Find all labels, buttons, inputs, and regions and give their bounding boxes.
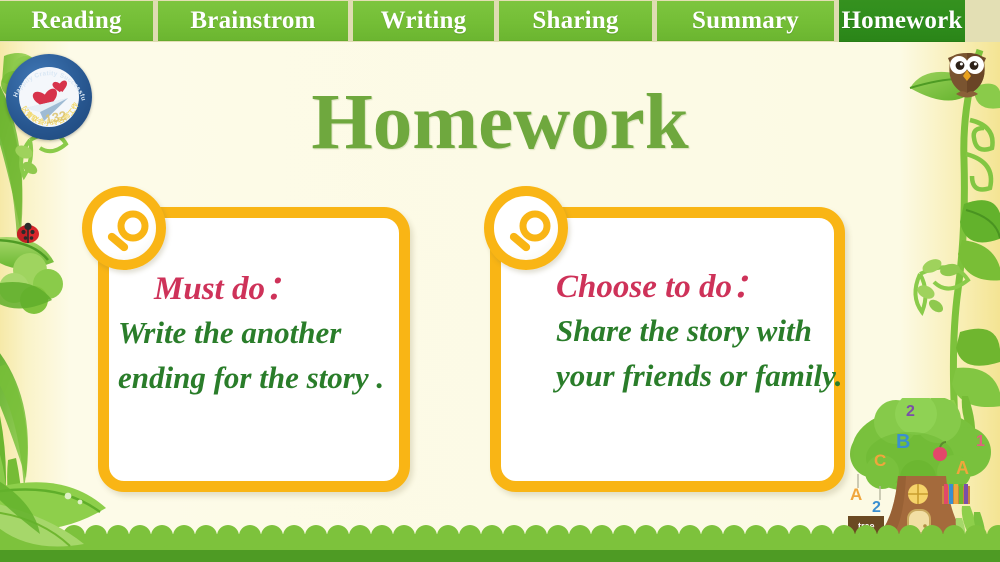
card-body-text: Share the story with your friends or fam… [556, 308, 856, 398]
badge-number: 132 [46, 110, 76, 128]
card-lead-label: Must do： [118, 268, 414, 310]
svg-text:1: 1 [976, 433, 985, 450]
card-text-choose-to-do: Choose to do： Share the story with your … [556, 266, 856, 398]
tab-homework[interactable]: Homework [839, 0, 965, 42]
tab-label: Writing [381, 7, 467, 35]
tab-summary[interactable]: Summary [657, 1, 834, 41]
svg-text:132: 132 [46, 110, 68, 127]
magnifier-icon [508, 210, 554, 256]
magnifier-icon [106, 210, 152, 256]
tab-label: Brainstrom [190, 7, 315, 35]
slide-canvas: 2 B C A 1 A 2 3 tree [0, 0, 1000, 562]
svg-text:2: 2 [906, 403, 915, 420]
tab-label: Homework [841, 7, 962, 35]
school-badge-logo: Happily Cratity Successfully 区青联会小玲名师工作室… [6, 54, 92, 140]
svg-text:C: C [874, 451, 886, 470]
svg-text:A: A [956, 458, 969, 478]
tab-reading[interactable]: Reading [0, 1, 153, 41]
tab-label: Reading [31, 7, 121, 35]
card-body-text: Write the another ending for the story . [118, 310, 414, 400]
tab-sharing[interactable]: Sharing [499, 1, 652, 41]
svg-text:B: B [896, 431, 910, 453]
tab-brainstrom[interactable]: Brainstrom [158, 1, 348, 41]
card-icon-badge-choose-to-do [484, 186, 568, 270]
card-text-must-do: Must do： Write the another ending for th… [118, 268, 414, 400]
tab-label: Sharing [532, 7, 618, 35]
navigation-tab-bar[interactable]: Reading Brainstrom Writing Sharing Summa… [0, 0, 1000, 42]
page-title: Homework [0, 83, 1000, 162]
card-lead-label: Choose to do： [556, 266, 856, 308]
card-icon-badge-must-do [82, 186, 166, 270]
tab-writing[interactable]: Writing [353, 1, 494, 41]
svg-text:2: 2 [872, 499, 881, 516]
heart-icon [49, 75, 64, 90]
svg-text:A: A [850, 485, 862, 504]
tab-label: Summary [692, 7, 799, 35]
